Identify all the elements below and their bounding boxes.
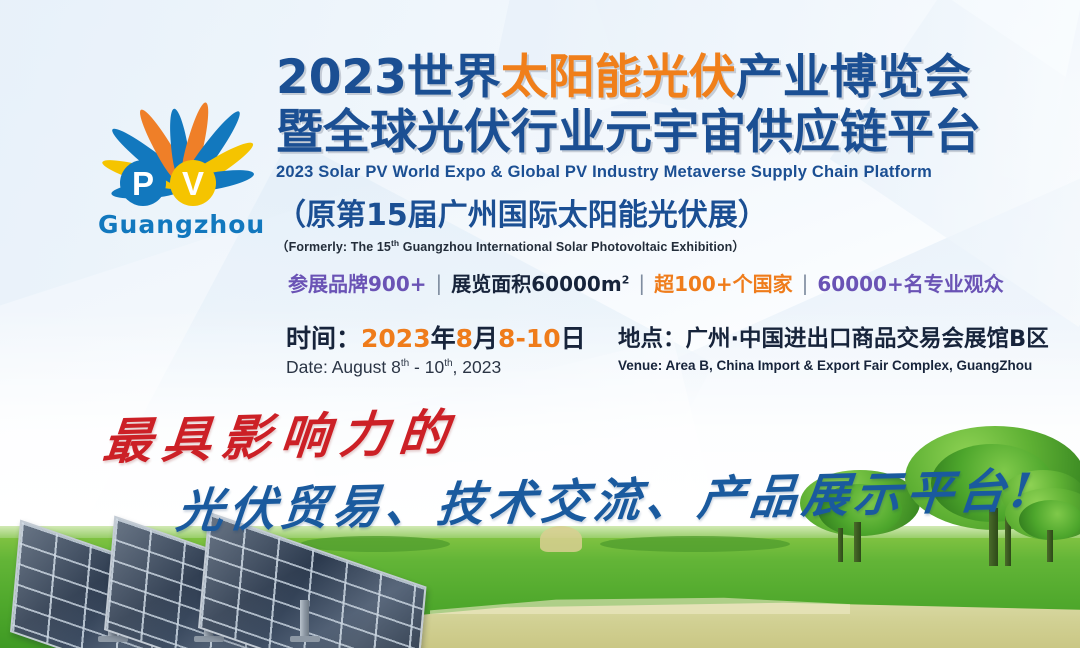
headline-block: 2023世界太阳能光伏产业博览会 暨全球光伏行业元宇宙供应链平台 2023 So… (276, 50, 1066, 255)
stat-area: 展览面积60000m2 (451, 268, 629, 297)
date-en-post: , 2023 (453, 357, 502, 377)
logo-wordmark: Guangzhou (98, 210, 298, 239)
solar-base-3 (290, 636, 320, 642)
date-cn-days: 8-10 (498, 324, 561, 353)
logo-letter-p: P (120, 160, 166, 206)
venue-block: 地点：广州·中国进出口商品交易会展馆B区 Venue: Area B, Chin… (618, 324, 1049, 373)
expo-poster: P V Guangzhou 2023世界太阳能光伏产业博览会 暨全球光伏行业元宇… (0, 0, 1080, 648)
stat-area-sup: 2 (622, 273, 630, 286)
date-en-sup1: th (401, 358, 409, 369)
stats-row: 参展品牌900+ | 展览面积60000m2 | 超100+个国家 | 6000… (288, 268, 1004, 297)
date-cn-year: 2023 (361, 324, 431, 353)
date-cn-month-unit: 月 (473, 324, 498, 353)
date-cn-label: 时间： (286, 324, 361, 353)
date-block: 时间：2023年8月8-10日 Date: August 8th - 10th,… (286, 324, 586, 378)
former-en-sup: th (391, 238, 399, 248)
former-name-en: （Formerly: The 15th Guangzhou Internatio… (276, 236, 1066, 255)
venue-cn: 地点：广州·中国进出口商品交易会展馆B区 (618, 324, 1049, 354)
pv-guangzhou-logo: P V Guangzhou (52, 42, 282, 242)
shrub-row-2 (300, 536, 450, 552)
slogan-line-1: 最具影响力的 (100, 393, 462, 474)
title-seg-2: 太阳能光伏 (501, 50, 736, 105)
date-en-pre: Date: August 8 (286, 357, 401, 377)
logo-letter-v: V (170, 160, 216, 206)
title-seg-3: 产业博览会 (736, 50, 971, 105)
title-seg-1: 2023世界 (276, 50, 501, 105)
former-en-pre: （Formerly: The 15 (276, 240, 391, 254)
stat-separator-3: | (802, 271, 809, 295)
venue-en: Venue: Area B, China Import & Export Fai… (618, 358, 1049, 373)
solar-base-2 (194, 636, 224, 642)
stat-separator-1: | (436, 271, 443, 295)
date-cn-year-unit: 年 (431, 324, 456, 353)
stat-area-label: 展览面积60000m (451, 272, 621, 296)
stat-separator-2: | (638, 271, 645, 295)
title-line-1: 2023世界太阳能光伏产业博览会 (276, 50, 1066, 105)
solar-pole-3 (300, 600, 309, 640)
date-cn: 时间：2023年8月8-10日 (286, 324, 586, 354)
former-en-post: Guangzhou International Solar Photovolta… (399, 240, 745, 254)
stat-brands: 参展品牌900+ (288, 268, 427, 297)
stat-countries: 超100+个国家 (654, 268, 793, 297)
shrub-row-1 (600, 536, 790, 552)
pv-letters: P V (114, 160, 244, 210)
title-english: 2023 Solar PV World Expo & Global PV Ind… (276, 163, 1066, 182)
date-en: Date: August 8th - 10th, 2023 (286, 357, 586, 378)
former-name-cn: （原第15届广州国际太阳能光伏展） (276, 190, 1066, 234)
date-cn-month: 8 (456, 324, 473, 353)
date-en-sup2: th (444, 358, 452, 369)
stat-visitors: 60000+名专业观众 (817, 268, 1003, 297)
date-en-mid: - 10 (409, 357, 444, 377)
date-cn-day-unit: 日 (561, 324, 586, 353)
title-line-2: 暨全球光伏行业元宇宙供应链平台 (276, 105, 1066, 160)
